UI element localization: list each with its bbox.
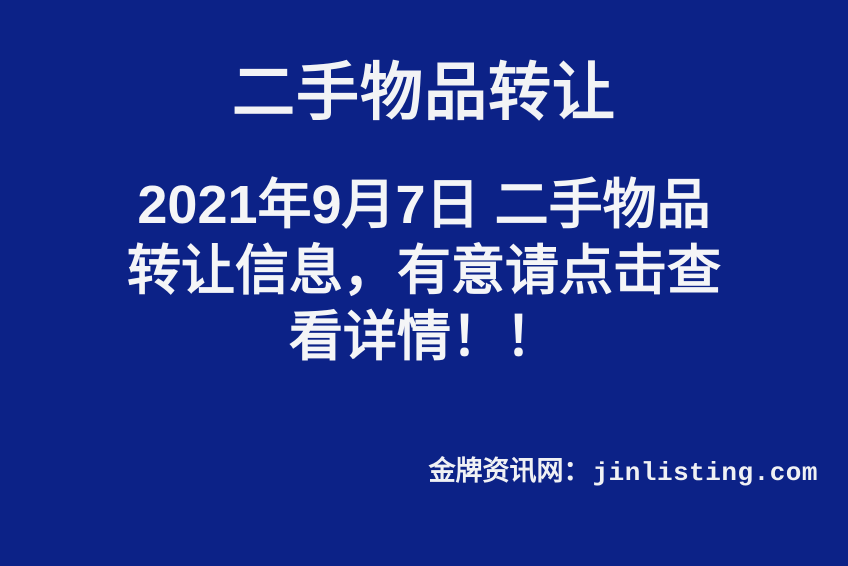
promo-poster: 二手物品转让 2021年9月7日 二手物品 转让信息，有意请点击查 看详情！！ … [0,0,848,566]
announcement-body: 2021年9月7日 二手物品 转让信息，有意请点击查 看详情！！ [0,172,848,370]
announcement-line-1: 2021年9月7日 二手物品 [0,172,848,238]
announcement-line-2: 转让信息，有意请点击查 [0,238,848,304]
site-watermark: 金牌资讯网： jinlisting.com [429,454,818,490]
page-title: 二手物品转让 [0,56,848,130]
site-url: jinlisting.com [593,456,818,490]
announcement-line-3: 看详情！！ [0,304,848,370]
site-name-label: 金牌资讯网： [429,454,591,488]
